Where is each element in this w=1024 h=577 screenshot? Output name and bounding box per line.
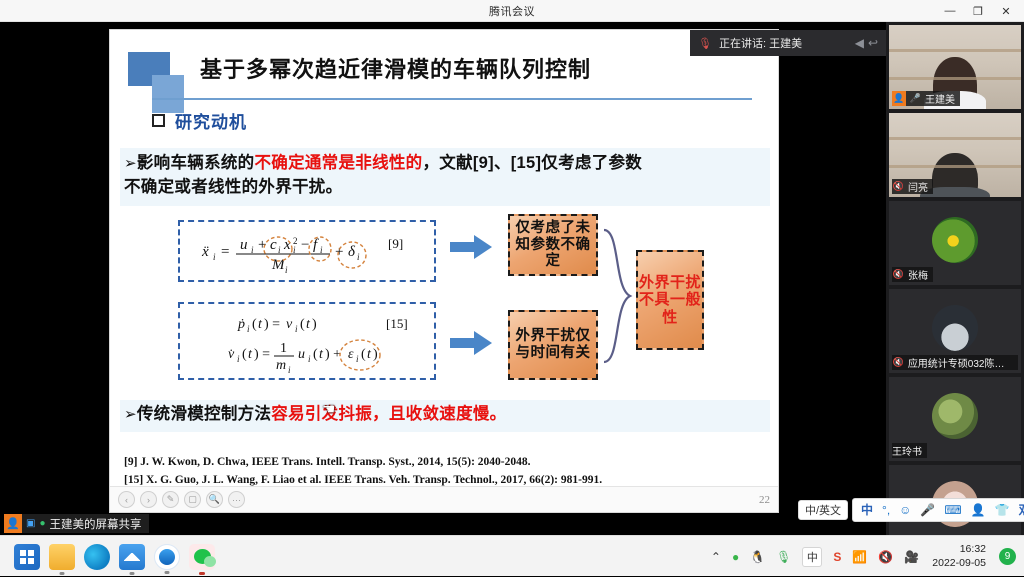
qq-penguin-icon[interactable]: 🐧 [750, 550, 765, 564]
window-controls: — ❐ ✕ [936, 0, 1020, 22]
svg-text:u: u [298, 347, 305, 362]
tray-mic-icon[interactable]: 🎙 [776, 550, 791, 564]
callout-box-2-text: 外界干扰仅与时间有关 [510, 328, 596, 361]
svg-text:+: + [335, 244, 343, 260]
slide-subtitle: 研究动机 [175, 108, 247, 133]
participant-nametag: 🔇 应用统计专硕032陈灿虎 [892, 355, 1018, 370]
svg-text:u: u [240, 237, 248, 253]
minimize-button[interactable]: — [936, 0, 964, 22]
slide-annotation-toolbar[interactable]: ‹ › ✎ ▢ 🔍 ··· 22 [110, 486, 778, 512]
svg-text:m: m [276, 358, 286, 373]
formula-2-graphic: ṗi (t ) = vi (t ) v̇i (t ) = 1 mi ui (t [180, 304, 434, 378]
window-title: 腾讯会议 [489, 3, 535, 19]
svg-text:(: ( [252, 317, 257, 332]
svg-text:(: ( [361, 347, 366, 362]
participant-rail[interactable]: 👤 🎤 王建美 🔇 闫亮 🔇 张梅 🔇 应 [886, 22, 1024, 535]
window-title-bar: 腾讯会议 — ❐ ✕ [0, 0, 1024, 22]
ime-tooltip: 中/英文 [798, 500, 848, 520]
mic-muted-icon: 🔇 [892, 357, 905, 368]
formula-1-graphic: ẍi = ui + ci x2 i − fi Mi + δi [180, 222, 434, 280]
ime-punctuation-icon[interactable]: °, [882, 504, 890, 516]
avatar [932, 305, 978, 351]
mic-icon: 🎤 [909, 93, 922, 104]
svg-text:i: i [247, 324, 250, 334]
bullet1-line2: 不确定或者线性的外界干扰。 [124, 176, 766, 200]
active-speaker-bar[interactable]: 🎙 正在讲话: 王建美 ◀ ↩ [690, 30, 886, 56]
screen-share-label: 王建美的屏幕共享 [50, 516, 142, 532]
callout-box-1-text: 仅考虑了未知参数不确定 [510, 220, 596, 270]
curly-brace-icon [600, 226, 634, 366]
blue-app-icon[interactable] [119, 544, 145, 570]
participant-nametag: 👤 🎤 王建美 [892, 91, 960, 106]
zoom-button[interactable]: 🔍 [206, 491, 223, 508]
svg-text:(: ( [242, 347, 247, 362]
wifi-icon[interactable]: 📶 [852, 550, 867, 564]
svg-text:ẍ: ẍ [201, 244, 209, 260]
participant-tile-1[interactable]: 🔇 闫亮 [889, 113, 1021, 197]
more-options-button[interactable]: ··· [228, 491, 245, 508]
wechat-icon[interactable] [189, 544, 215, 570]
ime-user-icon[interactable]: 👤 [971, 504, 986, 516]
svg-text:ε: ε [348, 347, 354, 362]
formula-box-1: ẍi = ui + ci x2 i − fi Mi + δi [178, 220, 436, 282]
participant-tile-2[interactable]: 🔇 张梅 [889, 201, 1021, 285]
bullet1-text-part1: 影响车辆系统的 [137, 154, 255, 172]
svg-text:) +: ) + [325, 347, 341, 362]
svg-text:c: c [270, 237, 277, 253]
formula-2-reference: [15] [386, 316, 408, 331]
active-speaker-label: 正在讲话: 王建美 [719, 35, 848, 51]
svg-text:) =: ) = [264, 317, 280, 332]
mic-muted-icon: 🔇 [892, 181, 905, 192]
ime-emoji-icon[interactable]: ☺ [899, 504, 911, 516]
slide-title: 基于多幂次趋近律滑模的车辆队列控制 [200, 52, 760, 84]
mic-icon-small: ● [39, 518, 45, 529]
svg-text:v̇: v̇ [228, 347, 235, 362]
ime-mode-icon[interactable]: 中 [861, 504, 873, 516]
svg-text:−: − [301, 237, 309, 253]
maximize-button[interactable]: ❐ [964, 0, 992, 22]
presentation-slide[interactable]: 基于多幂次趋近律滑模的车辆队列控制 研究动机 ➢影响车辆系统的不确定通常是非线性… [110, 30, 778, 512]
participant-nametag: 🔇 张梅 [892, 267, 933, 282]
bullet-paragraph-2: ➢传统滑模控制方法容易引发抖振，且收敛速度慢。 [120, 400, 770, 432]
ime-voice-icon[interactable]: 🎤 [920, 504, 935, 516]
svg-text:i: i [237, 354, 240, 364]
camera-icon[interactable]: 🎥 [904, 550, 919, 564]
screen-share-indicator: 👤 ▣ ● 王建美的屏幕共享 [4, 514, 149, 533]
reference-item-9: [9] J. W. Kwon, D. Chwa, IEEE Trans. Int… [124, 454, 602, 472]
tray-expand-chevron-icon[interactable]: ⌃ [711, 550, 721, 564]
ime-indicator[interactable]: 中 [802, 547, 822, 567]
svg-text:i: i [295, 324, 298, 334]
volume-mute-icon[interactable]: 🔇 [878, 550, 893, 564]
avatar [932, 393, 978, 439]
participant-name: 王建美 [925, 91, 955, 106]
participant-name: 闫亮 [908, 179, 928, 194]
meeting-window-body: 基于多幂次趋近律滑模的车辆队列控制 研究动机 ➢影响车辆系统的不确定通常是非线性… [0, 22, 1024, 535]
windows-taskbar[interactable]: ⌃ ● 🐧 🎙 中 S 📶 🔇 🎥 16:32 2022-09-05 9 [0, 535, 1024, 576]
slide-subtitle-row: 研究动机 [152, 108, 247, 133]
callout-box-1: 仅考虑了未知参数不确定 [508, 214, 598, 276]
formula-box-2: ṗi (t ) = vi (t ) v̇i (t ) = 1 mi ui (t [178, 302, 436, 380]
tray-green-icon[interactable]: ● [732, 550, 739, 564]
ime-double-pinyin-icon[interactable]: 双 [1019, 504, 1024, 516]
svg-text:v: v [286, 317, 293, 332]
close-button[interactable]: ✕ [992, 0, 1020, 22]
square-bullet-icon [152, 114, 165, 127]
svg-text:): ) [373, 347, 378, 362]
file-explorer-icon[interactable] [49, 544, 75, 570]
participant-name: 应用统计专硕032陈灿虎 [908, 355, 1013, 370]
clock-time: 16:32 [960, 543, 986, 556]
ime-keyboard-icon[interactable]: ⌨ [944, 504, 961, 516]
clock-date: 2022-09-05 [932, 557, 986, 570]
participant-name: 张梅 [908, 267, 928, 282]
bullet-marker-icon: ➢ [124, 155, 137, 172]
svg-text:ṗ: ṗ [237, 317, 245, 332]
svg-text:i: i [308, 354, 311, 364]
svg-text:t: t [306, 317, 311, 332]
bullet-marker-icon-2: ➢ [124, 406, 137, 423]
svg-text:i: i [288, 365, 291, 375]
slide-page-number: 22 [759, 494, 770, 506]
avatar [932, 217, 978, 263]
bullet-paragraph-1: ➢影响车辆系统的不确定通常是非线性的，文献[9]、[15]仅考虑了参数 不确定或… [120, 148, 770, 206]
callout-box-3-text: 外界干扰不具一般性 [638, 274, 702, 326]
tencent-meeting-icon[interactable] [154, 544, 180, 570]
svg-text:x: x [283, 237, 291, 253]
participant-tile-3[interactable]: 🔇 应用统计专硕032陈灿虎 [889, 289, 1021, 373]
svg-text:t: t [258, 317, 263, 332]
svg-text:t: t [248, 347, 253, 362]
arrow-right-icon-2 [450, 330, 492, 356]
svg-text:=: = [221, 244, 229, 260]
notification-badge[interactable]: 9 [999, 548, 1016, 565]
callout-box-2: 外界干扰仅与时间有关 [508, 310, 598, 380]
taskbar-apps[interactable] [0, 536, 215, 577]
sogou-icon[interactable]: S [833, 550, 841, 564]
next-slide-button[interactable]: › [140, 491, 157, 508]
edge-browser-icon[interactable] [84, 544, 110, 570]
prev-slide-button[interactable]: ‹ [118, 491, 135, 508]
shared-screen-area[interactable]: 基于多幂次趋近律滑模的车辆队列控制 研究动机 ➢影响车辆系统的不确定通常是非线性… [0, 22, 886, 535]
title-underline [152, 98, 752, 100]
svg-text:t: t [319, 347, 324, 362]
formula-1-reference: [9] [388, 236, 403, 251]
svg-text:i: i [213, 252, 216, 262]
participant-tile-0[interactable]: 👤 🎤 王建美 [889, 25, 1021, 109]
speaker-controls[interactable]: ◀ ↩ [855, 36, 878, 50]
stamp-button[interactable]: ▢ [184, 491, 201, 508]
ime-skin-icon[interactable]: 👕 [995, 504, 1010, 516]
arrow-right-icon-1 [450, 234, 492, 260]
mic-muted-icon: 🔇 [892, 269, 905, 280]
svg-text:): ) [312, 317, 317, 332]
reference-list: [9] J. W. Kwon, D. Chwa, IEEE Trans. Int… [124, 454, 602, 490]
svg-text:(: ( [313, 347, 318, 362]
svg-text:i: i [357, 252, 360, 262]
person-icon: 👤 [892, 91, 906, 106]
person-icon: 👤 [4, 514, 22, 533]
screen-share-icon: ▣ [26, 518, 35, 529]
svg-text:t: t [367, 347, 372, 362]
bullet2-highlight: 容易引发抖振，且收敛速度慢。 [271, 405, 506, 423]
callout-box-3: 外界干扰不具一般性 [636, 250, 704, 350]
return-arrow-icon[interactable]: ↩ [868, 36, 878, 50]
bullet1-highlight: 不确定通常是非线性的 [254, 154, 422, 172]
participant-nametag: 王玲书 [892, 443, 927, 458]
svg-text:δ: δ [348, 244, 356, 260]
ime-toolbar[interactable]: 中 °, ☺ 🎤 ⌨ 👤 👕 双 ▦ [852, 498, 1024, 522]
system-tray[interactable]: ⌃ ● 🐧 🎙 中 S 📶 🔇 🎥 16:32 2022-09-05 9 [711, 536, 1016, 577]
mouse-cursor-icon: ☚ [322, 400, 335, 418]
svg-text:f: f [313, 237, 319, 253]
bullet2-text-part1: 传统滑模控制方法 [137, 405, 271, 423]
participant-tile-4[interactable]: 王玲书 [889, 377, 1021, 461]
bullet1-text-part2: ，文献[9]、[15]仅考虑了参数 [422, 154, 642, 172]
svg-text:) =: ) = [254, 347, 270, 362]
collapse-arrow-icon[interactable]: ◀ [855, 36, 864, 50]
start-button[interactable] [14, 544, 40, 570]
svg-text:(: ( [300, 317, 305, 332]
svg-text:i: i [356, 354, 359, 364]
mic-icon: 🎙 [698, 36, 712, 50]
clock[interactable]: 16:32 2022-09-05 [932, 543, 986, 569]
svg-text:i: i [285, 265, 288, 275]
svg-text:1: 1 [280, 341, 287, 356]
participant-name: 王玲书 [892, 443, 922, 458]
annotate-pen-button[interactable]: ✎ [162, 491, 179, 508]
participant-nametag: 🔇 闫亮 [892, 179, 933, 194]
